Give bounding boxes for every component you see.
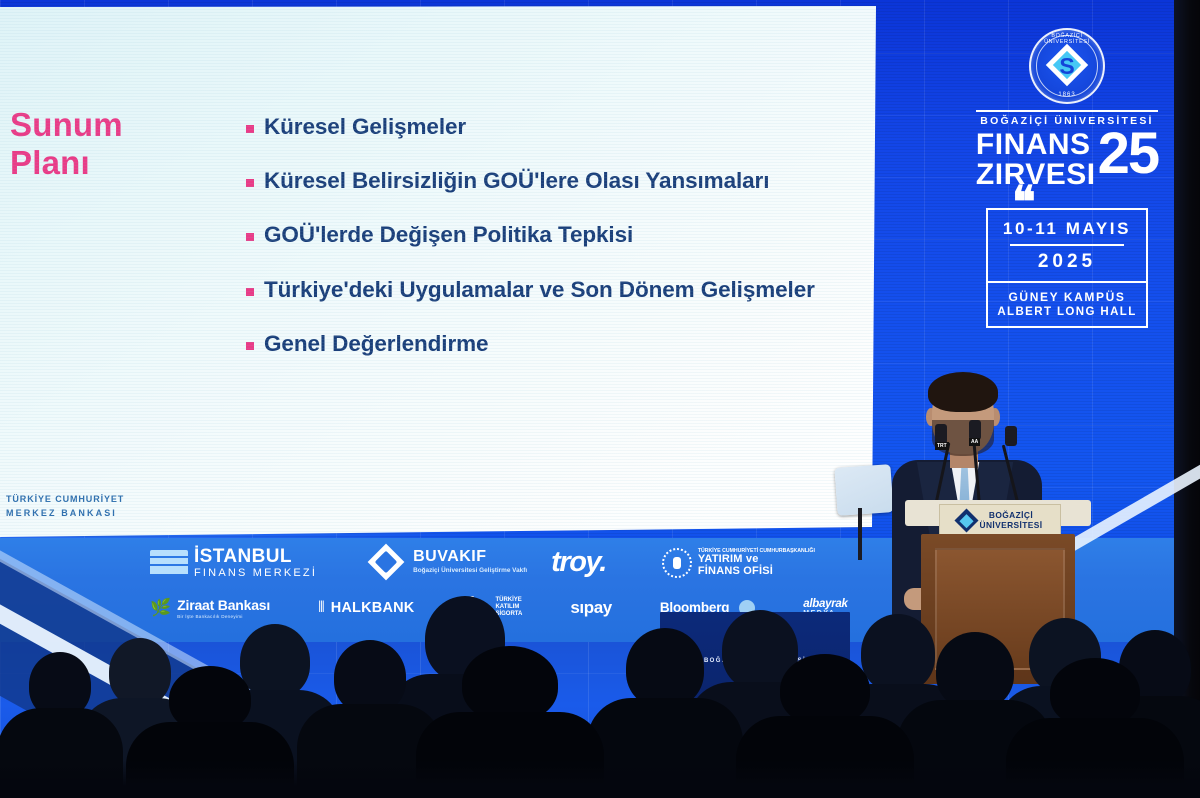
microphone-head (1005, 426, 1017, 446)
podium-plate-text: BOĞAZİÇİ ÜNİVERSİTESİ (980, 510, 1043, 531)
foreground-vignette (0, 760, 1200, 798)
teleprompter-stand (858, 508, 862, 560)
microphone-head (969, 420, 981, 440)
plate-line-1: BOĞAZİÇİ (980, 510, 1043, 521)
microphone-label-aa: AA (969, 438, 980, 446)
wordmark-line-1: FINANS (976, 130, 1096, 160)
seal-year: 1863 (1031, 92, 1103, 98)
date-divider (1010, 244, 1124, 246)
event-venue-group: GÜNEY KAMPÜS ALBERT LONG HALL (988, 281, 1146, 326)
seal-letter: S (1054, 53, 1080, 79)
audience (0, 560, 1200, 798)
podium-name-plate: BOĞAZİÇİ ÜNİVERSİTESİ (939, 504, 1061, 536)
event-wordmark: FINANS ZIRVESI 25 (960, 130, 1174, 196)
event-wordmark-lines: FINANS ZIRVESI (976, 130, 1096, 189)
venue-line-2: ALBERT LONG HALL (992, 306, 1142, 318)
venue-line-1: GÜNEY KAMPÜS (992, 290, 1142, 304)
event-date: 10-11 MAYIS (992, 219, 1142, 239)
microphone-head (935, 424, 947, 444)
speaker-hair (928, 372, 998, 412)
wordmark-line-2: ZIRVESI (976, 160, 1096, 190)
event-date-group: 10-11 MAYIS 2025 (988, 210, 1146, 281)
presentation-slide: Sunum Planı Küresel Gelişmeler Küresel B… (0, 6, 876, 538)
bogazici-university-seal-icon: BOĞAZİÇİ ÜNİVERSİTESİ S 1863 (1029, 28, 1105, 104)
event-year: 2025 (992, 251, 1142, 273)
plate-line-2: ÜNİVERSİTESİ (980, 520, 1043, 531)
slide-scanlines (0, 6, 876, 538)
event-edition-number: 25 (1098, 130, 1159, 179)
event-banner: BOĞAZİÇİ ÜNİVERSİTESİ S 1863 BOĞAZİÇİ ÜN… (960, 22, 1174, 340)
conference-photo-scene: Sunum Planı Küresel Gelişmeler Küresel B… (0, 0, 1200, 798)
event-date-box: 10-11 MAYIS 2025 GÜNEY KAMPÜS ALBERT LON… (986, 208, 1148, 328)
microphone-label-trt: TRT (935, 442, 949, 450)
bogazici-diamond-icon (954, 508, 978, 532)
